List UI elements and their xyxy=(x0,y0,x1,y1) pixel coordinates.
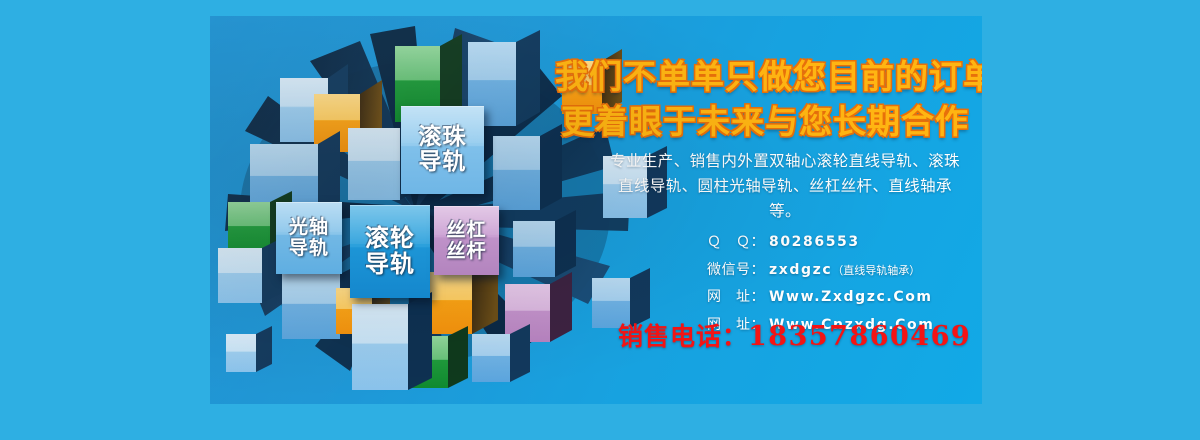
contact-value-qq: 80286553 xyxy=(769,229,860,257)
banner-panel: 滚珠 导轨 光轴 导轨 滚轮 导轨 丝杠 丝杆 我们不单单只做您目前的订单 更着… xyxy=(210,16,982,404)
product-cube-guangzhou-daogui: 光轴 导轨 xyxy=(276,202,342,274)
contact-value-website-1[interactable]: Www.Zxdgzc.Com xyxy=(769,284,933,312)
contact-label-wechat: 微信号： xyxy=(707,257,769,285)
product-cube-sigang-line2: 丝杆 xyxy=(446,241,486,262)
product-cube-gunzhu-line2: 导轨 xyxy=(419,150,467,175)
contact-label-qq: Ｑ Ｑ： xyxy=(707,229,769,257)
banner-copy: 我们不单单只做您目前的订单 更着眼于未来与您长期合作 专业生产、销售内外置双轴心… xyxy=(555,16,982,404)
product-cube-sigang-sigan: 丝杠 丝杆 xyxy=(434,206,499,275)
product-cube-sigang-line1: 丝杠 xyxy=(446,220,486,241)
product-cube-gunzhu-daogui: 滚珠 导轨 xyxy=(401,106,484,194)
sales-phone-label: 销售电话： xyxy=(618,322,748,351)
sales-phone-block: 销售电话：18357860469 xyxy=(618,317,971,353)
contact-row-qq: Ｑ Ｑ： 80286553 xyxy=(707,229,934,257)
product-cube-gunzhu-line1: 滚珠 xyxy=(419,125,467,150)
sales-phone-number: 18357860469 xyxy=(748,321,971,352)
contact-row-wechat: 微信号： zxdgzc （直线导轨轴承） xyxy=(707,257,934,285)
product-cube-gunlun-line2: 导轨 xyxy=(365,252,415,278)
contact-note-wechat: （直线导轨轴承） xyxy=(832,260,920,282)
contact-row-website-1: 网 址： Www.Zxdgzc.Com xyxy=(707,284,934,312)
headline-line-2: 更着眼于未来与您长期合作 xyxy=(555,95,975,143)
contact-value-wechat: zxdgzc xyxy=(769,257,832,285)
product-cube-gunlun-line1: 滚轮 xyxy=(365,226,415,252)
contact-label-website-1: 网 址： xyxy=(707,284,769,312)
headline-line-1: 我们不单单只做您目前的订单 xyxy=(555,50,975,98)
company-description: 专业生产、销售内外置双轴心滚轮直线导轨、滚珠直线导轨、圆柱光轴导轨、丝杠丝杆、直… xyxy=(609,149,961,224)
product-cube-gunlun-daogui: 滚轮 导轨 xyxy=(350,205,430,298)
product-cube-guangzhou-line1: 光轴 xyxy=(289,217,329,238)
promo-banner: 滚珠 导轨 光轴 导轨 滚轮 导轨 丝杠 丝杆 我们不单单只做您目前的订单 更着… xyxy=(0,0,1200,440)
product-cube-guangzhou-line2: 导轨 xyxy=(289,238,329,259)
